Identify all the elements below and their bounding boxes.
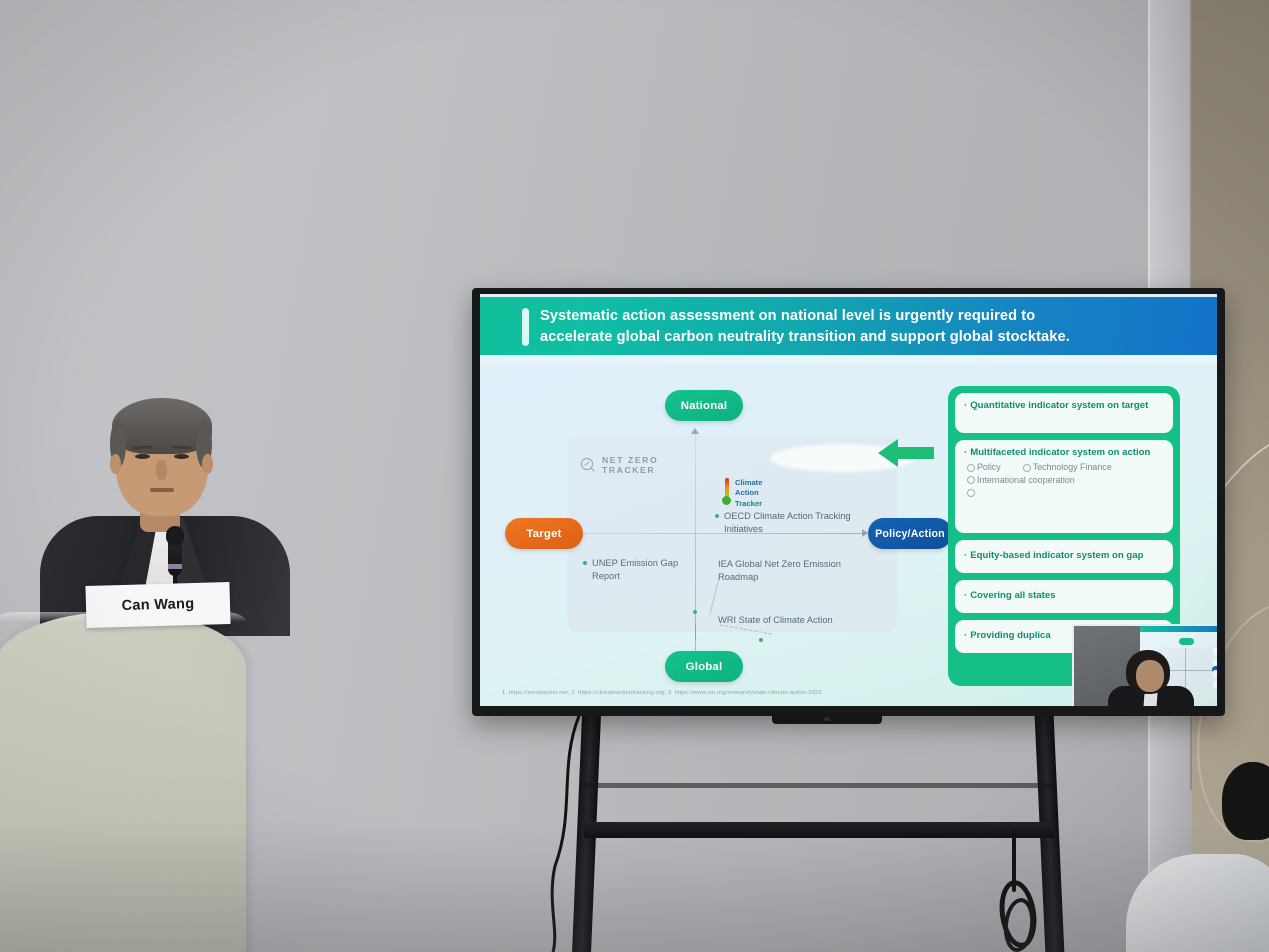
axis-label-global: Global xyxy=(665,651,743,682)
title-underband xyxy=(480,355,1217,364)
indicator-card-multifaceted: Multifaceted indicator system on action … xyxy=(955,440,1173,533)
indicator-heading: Providing duplica xyxy=(964,630,1051,642)
quadrant-item-unep: UNEP Emission Gap Report xyxy=(592,557,704,582)
circle-bullet-icon xyxy=(1023,464,1031,472)
quadrant-vertical-axis xyxy=(695,432,696,640)
scene-photo: Systematic action assessment on national… xyxy=(0,0,1269,952)
speaker-eye-left xyxy=(135,454,150,459)
speaker-eye-right xyxy=(174,454,189,459)
tv-stand-upper-bar xyxy=(584,783,1054,788)
green-arrow-left-icon xyxy=(878,437,934,469)
picture-in-picture-camera xyxy=(1072,624,1217,706)
magnifier-icon xyxy=(580,457,596,473)
net-zero-tracker-text: NET ZERO TRACKER xyxy=(602,455,658,476)
slide-title-line-1: Systematic action assessment on national… xyxy=(540,306,1190,327)
pip-indicator-cards xyxy=(1213,648,1217,694)
pip-slide-title-bar xyxy=(1140,626,1217,632)
microphone-head xyxy=(166,526,184,546)
bullet-dot-wri xyxy=(693,610,697,614)
quadrant-item-wri: WRI State of Climate Action xyxy=(718,614,868,627)
slide-title-line-2: accelerate global carbon neutrality tran… xyxy=(540,327,1190,348)
display-power-led xyxy=(824,717,830,721)
indicator-heading: Equity-based indicator system on gap xyxy=(964,550,1143,562)
slide-title: Systematic action assessment on national… xyxy=(540,306,1190,347)
floor-shadow xyxy=(0,822,1269,952)
bullet-dot-wri-end xyxy=(759,638,763,642)
axis-label-target: Target xyxy=(505,518,583,549)
cat-line-3: Tracker xyxy=(735,499,762,509)
thermometer-icon xyxy=(722,478,731,506)
cat-line-2: Action xyxy=(735,488,762,498)
bullet-dot-oecd xyxy=(715,514,719,518)
subitem-technology-finance: Technology Finance xyxy=(1033,461,1112,473)
cat-line-1: Climate xyxy=(735,478,762,488)
speaker-nose xyxy=(156,460,167,480)
net-zero-tracker-logo: NET ZERO TRACKER xyxy=(580,455,658,476)
indicator-heading: Multifaceted indicator system on action xyxy=(964,447,1164,459)
nzt-line-1: NET ZERO xyxy=(602,455,658,465)
indicator-card-quantitative: Quantitative indicator system on target xyxy=(955,393,1173,433)
speaker-ear-left xyxy=(110,454,121,474)
circle-bullet-icon xyxy=(967,476,975,484)
indicator-card-equity: Equity-based indicator system on gap xyxy=(955,540,1173,573)
speaker-ear-right xyxy=(202,454,213,474)
quadrant-item-iea: IEA Global Net Zero Emission Roadmap xyxy=(718,558,863,583)
axis-label-national: National xyxy=(665,390,743,421)
circle-bullet-icon xyxy=(967,489,975,497)
pip-speaker-face xyxy=(1136,660,1164,692)
speaker-nameplate: Can Wang xyxy=(85,582,230,628)
indicator-subitems: PolicyTechnology Finance International c… xyxy=(964,461,1164,498)
nzt-line-2: TRACKER xyxy=(602,465,658,475)
indicator-heading: Covering all states xyxy=(964,590,1056,602)
subitem-international-cooperation: International cooperation xyxy=(977,474,1075,486)
quadrant-item-oecd: OECD Climate Action Tracking Initiatives xyxy=(724,510,876,535)
climate-action-tracker-logo: Climate Action Tracker xyxy=(722,478,762,509)
slide-title-bar: Systematic action assessment on national… xyxy=(480,297,1217,355)
climate-action-tracker-text: Climate Action Tracker xyxy=(735,478,762,509)
axis-arrow-up-icon xyxy=(691,428,699,434)
title-accent-bar xyxy=(522,308,529,346)
indicator-card-covering: Covering all states xyxy=(955,580,1173,613)
speaker-name: Can Wang xyxy=(121,596,194,614)
axis-label-policy-action: Policy/Action xyxy=(868,518,952,549)
bullet-dot-unep xyxy=(583,561,587,565)
wall-display: Systematic action assessment on national… xyxy=(472,288,1225,716)
indicator-heading: Quantitative indicator system on target xyxy=(964,400,1164,412)
pip-pill-national xyxy=(1179,638,1194,645)
circle-bullet-icon xyxy=(967,464,975,472)
microphone-band xyxy=(168,564,182,569)
speaker-mouth xyxy=(150,488,174,492)
presentation-slide: Systematic action assessment on national… xyxy=(480,294,1217,706)
subitem-policy: Policy xyxy=(977,461,1001,473)
